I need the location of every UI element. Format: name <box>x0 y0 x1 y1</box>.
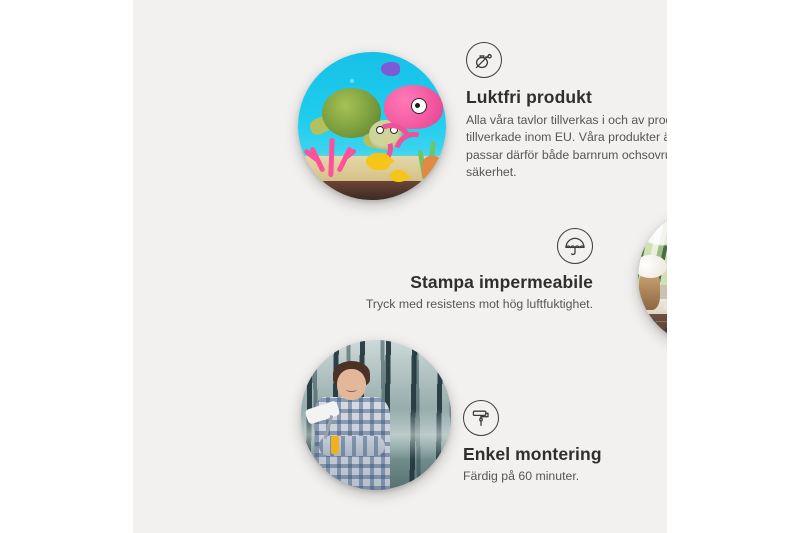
paint-roller-icon <box>463 400 499 436</box>
octopus-eye <box>411 98 427 114</box>
product-image-aquarium[interactable] <box>298 52 446 200</box>
product-image-bathroom[interactable] <box>638 208 667 346</box>
coral <box>307 129 360 176</box>
blue-fish-icon <box>381 62 400 75</box>
feature-title: Stampa impermeabile <box>348 272 593 293</box>
feature-title: Luktfri produkt <box>466 87 667 108</box>
vase <box>639 274 660 310</box>
content-panel: Luktfri produkt Alla våra tavlor tillver… <box>133 0 667 533</box>
person-arm <box>319 436 385 456</box>
feature-odourless: Luktfri produkt Alla våra tavlor tillver… <box>466 42 667 182</box>
drawer-handle <box>666 328 667 331</box>
feature-description: Alla våra tavlor tillverkas i och av pro… <box>466 112 667 182</box>
bathroom-scene <box>638 208 667 346</box>
screenshot-root: Luktfri produkt Alla våra tavlor tillver… <box>0 0 800 533</box>
no-fragrance-icon <box>466 42 502 78</box>
feature-description: Färdig på 60 minuter. <box>463 468 667 485</box>
person-smile <box>346 387 357 393</box>
feature-title: Enkel montering <box>463 444 667 465</box>
sea-foreground-rock <box>298 181 446 200</box>
yellow-fish-icon <box>366 153 390 171</box>
feature-description: Tryck med resistens mot hög luftfuktighe… <box>348 296 593 313</box>
feature-easy-install: Enkel montering Färdig på 60 minuter. <box>463 400 667 485</box>
umbrella-icon <box>557 228 593 264</box>
feature-waterproof: Stampa impermeabile Tryck med resistens … <box>348 228 593 313</box>
bubble-icon <box>350 79 354 83</box>
starfish <box>422 156 443 180</box>
paint-roller-grip <box>331 436 339 454</box>
product-image-installer[interactable] <box>301 340 451 490</box>
person-head <box>337 369 366 401</box>
aquarium-scene <box>298 52 446 200</box>
installer-scene <box>301 340 451 490</box>
yellow-fish-icon <box>390 170 406 182</box>
